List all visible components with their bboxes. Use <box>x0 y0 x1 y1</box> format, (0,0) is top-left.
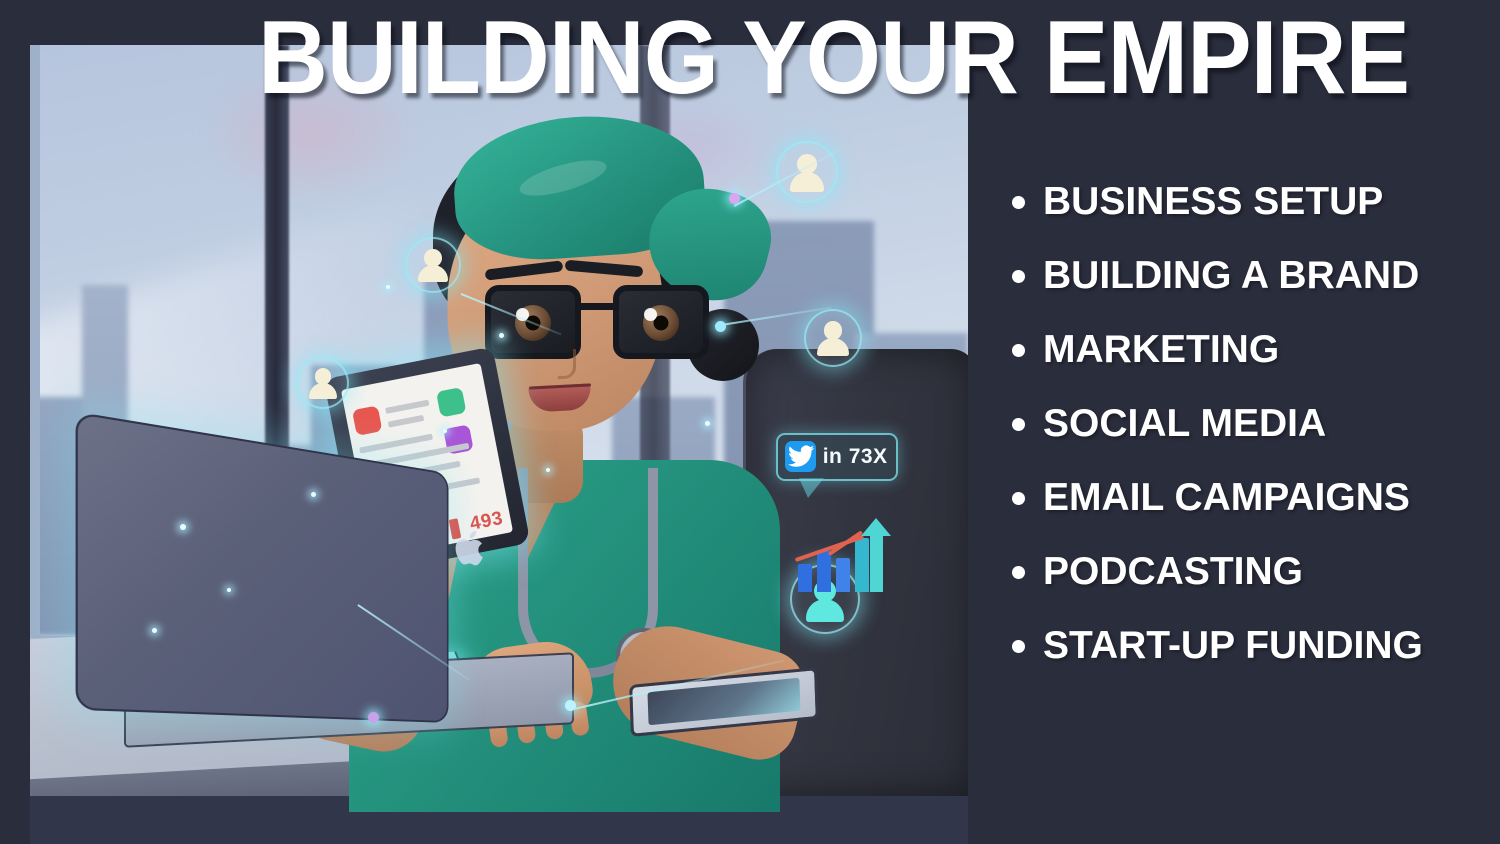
avatar-icon <box>297 357 349 409</box>
list-item[interactable]: START-UP FUNDING <box>1012 609 1482 683</box>
green-app-icon <box>437 387 467 417</box>
growth-bar <box>855 538 869 592</box>
feature-list: BUSINESS SETUP BUILDING A BRAND MARKETIN… <box>1012 165 1482 683</box>
bullet-dot-icon <box>1012 640 1025 653</box>
growth-bar <box>798 564 812 592</box>
growth-chart-icon <box>794 524 890 592</box>
bullet-dot-icon <box>1012 196 1025 209</box>
network-node <box>565 700 576 711</box>
sparkle <box>705 421 710 426</box>
growth-bar <box>817 550 831 592</box>
tablet-text-line <box>389 414 425 427</box>
list-item-label: BUILDING A BRAND <box>1043 254 1419 298</box>
bullet-dot-icon <box>1012 418 1025 431</box>
social-handles-text: in 73X <box>823 445 888 469</box>
list-item[interactable]: PODCASTING <box>1012 535 1482 609</box>
list-item-label: EMAIL CAMPAIGNS <box>1043 476 1410 520</box>
sunglasses-bridge <box>579 303 615 310</box>
list-item[interactable]: BUSINESS SETUP <box>1012 165 1482 239</box>
network-node <box>715 321 726 332</box>
apple-logo-icon <box>454 527 488 570</box>
sparkle <box>443 429 447 433</box>
person-nose <box>558 349 576 379</box>
sunglasses-lens <box>613 285 709 359</box>
avatar-icon <box>804 309 862 367</box>
list-item-label: MARKETING <box>1043 328 1279 372</box>
growth-bar <box>836 558 850 592</box>
twitter-bird-icon <box>785 441 816 472</box>
bullet-dot-icon <box>1012 344 1025 357</box>
list-item-label: PODCASTING <box>1043 550 1303 594</box>
growth-up-arrow-icon <box>870 534 883 592</box>
list-item[interactable]: EMAIL CAMPAIGNS <box>1012 461 1482 535</box>
list-item[interactable]: BUILDING A BRAND <box>1012 239 1482 313</box>
list-item[interactable]: MARKETING <box>1012 313 1482 387</box>
page-title: BUILDING YOUR EMPIRE <box>258 6 1402 110</box>
sparkle <box>499 333 504 338</box>
speech-bubble-tail <box>799 478 824 498</box>
list-item[interactable]: SOCIAL MEDIA <box>1012 387 1482 461</box>
list-item-label: BUSINESS SETUP <box>1043 180 1383 224</box>
bullet-dot-icon <box>1012 492 1025 505</box>
hero-illustration: 493 <box>30 45 968 844</box>
red-app-icon <box>353 405 383 435</box>
social-speech-bubble: in 73X <box>776 433 898 481</box>
network-node <box>368 712 379 723</box>
avatar-icon <box>405 237 461 293</box>
avatar-icon <box>776 141 838 203</box>
list-item-label: SOCIAL MEDIA <box>1043 402 1326 446</box>
bullet-dot-icon <box>1012 566 1025 579</box>
window-frame <box>30 45 40 636</box>
bullet-dot-icon <box>1012 270 1025 283</box>
network-node <box>729 193 740 204</box>
tablet-text-line <box>360 433 434 453</box>
list-item-label: START-UP FUNDING <box>1043 624 1423 668</box>
tablet-text-line <box>386 399 430 413</box>
sunglasses-icon <box>485 285 709 359</box>
